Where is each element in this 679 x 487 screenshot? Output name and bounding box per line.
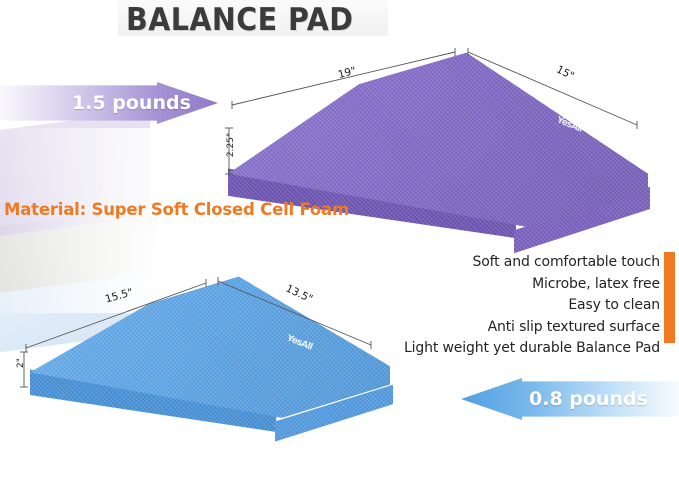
feature-item: Microbe, latex free — [360, 274, 660, 296]
page-title: BALANCE PAD — [126, 2, 353, 38]
ghost-pad-lavender — [0, 110, 150, 242]
large-pad-weight-badge: 1.5 pounds — [0, 82, 218, 124]
feature-list: Soft and comfortable touch Microbe, late… — [360, 252, 660, 360]
large-balance-pad — [228, 48, 648, 258]
feature-item: Light weight yet durable Balance Pad — [360, 338, 660, 360]
material-callout: Material: Super Soft Closed Cell Foam — [4, 200, 349, 219]
orange-accent-bar — [664, 252, 675, 343]
large-pad-weight-label: 1.5 pounds — [72, 92, 191, 114]
large-pad-thickness-label: 2.25" — [226, 133, 236, 157]
feature-item: Easy to clean — [360, 295, 660, 317]
small-pad-thickness-label: 2" — [16, 358, 26, 368]
small-pad-weight-badge: 0.8 pounds — [461, 378, 679, 420]
small-pad-weight-label: 0.8 pounds — [529, 388, 648, 410]
feature-item: Soft and comfortable touch — [360, 252, 660, 274]
feature-item: Anti slip textured surface — [360, 317, 660, 339]
product-infographic: BALANCE PAD YesAll 19" 15" 2.25" YesAll — [0, 0, 679, 487]
small-balance-pad — [30, 272, 390, 452]
